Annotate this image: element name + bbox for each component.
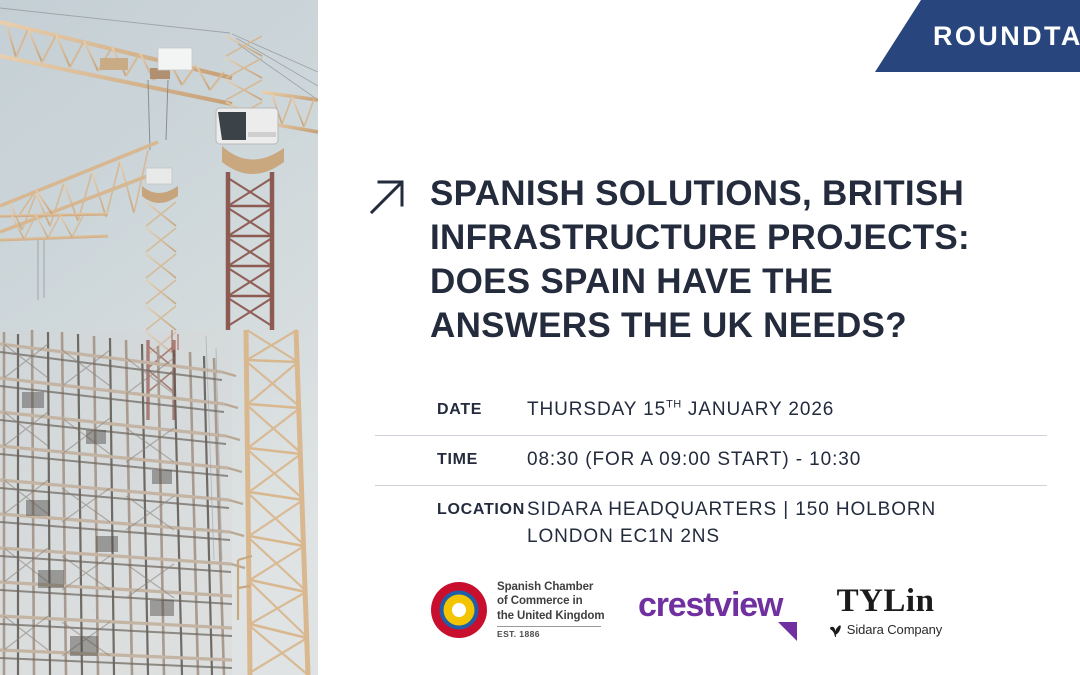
- event-poster: ROUNDTABLE SPANISH SOLUTIONS, BRITISH IN…: [0, 0, 1080, 675]
- detail-row-location: LOCATION SIDARA HEADQUARTERS | 150 HOLBO…: [375, 486, 1047, 555]
- scc-line-3: the United Kingdom: [497, 609, 604, 623]
- detail-label-location: LOCATION: [375, 497, 527, 521]
- spanish-chamber-wordmark: Spanish Chamber of Commerce in the Unite…: [497, 580, 604, 639]
- date-suffix: JANUARY 2026: [682, 399, 835, 420]
- location-line-2: LONDON EC1N 2NS: [527, 524, 1047, 551]
- crestview-wordmark: crestview: [638, 586, 782, 624]
- logo-tylin: TYLin Sidara Company: [818, 584, 953, 637]
- logo-crestview: crestview: [638, 588, 803, 644]
- scc-established: EST. 1886: [497, 629, 604, 639]
- partner-logos: Spanish Chamber of Commerce in the Unite…: [430, 578, 950, 648]
- tylin-tagline: Sidara Company: [847, 622, 942, 637]
- arrow-up-right-icon: [368, 176, 408, 216]
- sidara-leaf-icon: [829, 622, 842, 637]
- detail-row-date: DATE THURSDAY 15TH JANUARY 2026: [375, 386, 1047, 436]
- date-prefix: THURSDAY 15: [527, 399, 666, 420]
- tylin-tagline-row: Sidara Company: [818, 622, 953, 637]
- roundtable-banner: ROUNDTABLE: [875, 0, 1080, 72]
- construction-photo: [0, 0, 318, 675]
- crestview-triangle-icon: [778, 622, 797, 641]
- event-details-table: DATE THURSDAY 15TH JANUARY 2026 TIME 08:…: [375, 386, 1047, 555]
- detail-value-location: SIDARA HEADQUARTERS | 150 HOLBORN LONDON…: [527, 497, 1047, 551]
- title-line-1: SPANISH SOLUTIONS, BRITISH: [430, 172, 970, 216]
- title-line-3: DOES SPAIN HAVE THE: [430, 260, 970, 304]
- title-line-4: ANSWERS THE UK NEEDS?: [430, 304, 970, 348]
- location-line-1: SIDARA HEADQUARTERS | 150 HOLBORN: [527, 497, 1047, 524]
- detail-label-time: TIME: [375, 447, 527, 471]
- scc-line-2: of Commerce in: [497, 594, 604, 608]
- title-line-2: INFRASTRUCTURE PROJECTS:: [430, 216, 970, 260]
- detail-row-time: TIME 08:30 (FOR A 09:00 START) - 10:30: [375, 436, 1047, 486]
- banner-label: ROUNDTABLE: [933, 23, 1080, 50]
- page-title: SPANISH SOLUTIONS, BRITISH INFRASTRUCTUR…: [430, 172, 970, 348]
- tylin-wordmark: TYLin: [837, 583, 935, 619]
- title-block: SPANISH SOLUTIONS, BRITISH INFRASTRUCTUR…: [368, 172, 1058, 348]
- scc-line-1: Spanish Chamber: [497, 580, 604, 594]
- date-ordinal-suffix: TH: [666, 399, 682, 411]
- spanish-chamber-rings-icon: [430, 581, 488, 639]
- detail-value-date: THURSDAY 15TH JANUARY 2026: [527, 397, 1047, 424]
- detail-value-time: 08:30 (FOR A 09:00 START) - 10:30: [527, 447, 1047, 474]
- detail-label-date: DATE: [375, 397, 527, 421]
- logo-spanish-chamber: Spanish Chamber of Commerce in the Unite…: [430, 580, 604, 639]
- scc-divider: [497, 626, 601, 627]
